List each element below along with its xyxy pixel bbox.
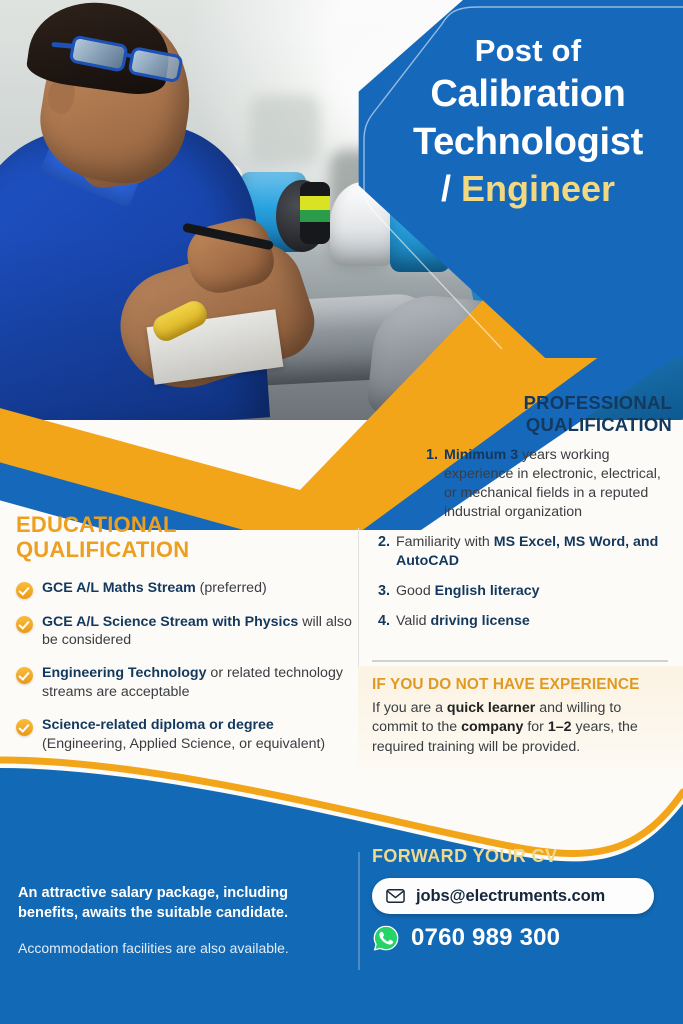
list-item-number: 2. <box>372 533 390 552</box>
list-item: 3. Good English literacy <box>372 582 672 601</box>
job-title-line2: Technologist <box>382 120 674 164</box>
no-experience-line2-bold2: 1–2 <box>548 719 572 735</box>
list-item-text: Valid driving license <box>396 612 530 631</box>
educational-heading-line1: EDUCATIONAL <box>16 512 354 537</box>
list-item-text: GCE A/L Maths Stream (preferred) <box>42 579 267 598</box>
check-icon <box>16 582 33 599</box>
salary-text: An attractive salary package, including … <box>18 884 348 923</box>
list-item-bold: GCE A/L Maths Stream <box>42 580 196 596</box>
job-flyer: Post of Calibration Technologist / Engin… <box>0 0 683 1024</box>
check-icon <box>16 667 33 684</box>
list-item-number: 1. <box>420 446 438 465</box>
email-contact-pill[interactable]: jobs@electruments.com <box>372 878 654 914</box>
engineer-label: Engineer <box>461 168 615 209</box>
header-title-block: Post of Calibration Technologist / Engin… <box>382 34 674 210</box>
list-item-pre: Good <box>396 583 435 599</box>
list-item: GCE A/L Maths Stream (preferred) <box>16 579 354 599</box>
salary-info: An attractive salary package, including … <box>18 884 348 957</box>
email-address: jobs@electruments.com <box>416 887 605 906</box>
list-item-text: GCE A/L Science Stream with Physics will… <box>42 613 354 651</box>
job-title-line3: / Engineer <box>382 167 674 210</box>
phone-number: 0760 989 300 <box>411 924 560 952</box>
list-item: GCE A/L Science Stream with Physics will… <box>16 613 354 651</box>
list-item-bold: English literacy <box>435 583 540 599</box>
forward-cv-section: FORWARD YOUR CV jobs@electruments.com 07… <box>372 846 672 952</box>
no-experience-line2-bold: company <box>461 719 523 735</box>
educational-qualification-section: EDUCATIONAL QUALIFICATION GCE A/L Maths … <box>16 512 354 768</box>
list-item-rest: (preferred) <box>196 580 267 596</box>
slash-separator: / <box>441 168 451 209</box>
professional-list: 1. Minimum 3 years working experience in… <box>372 446 672 631</box>
job-title-line1: Calibration <box>382 72 674 116</box>
no-experience-line1-post: and willing to <box>535 700 621 716</box>
professional-heading-line2: QUALIFICATION <box>372 414 672 436</box>
check-icon <box>16 719 33 736</box>
professional-heading-line1: PROFESSIONAL <box>372 392 672 414</box>
educational-heading-line2: QUALIFICATION <box>16 537 354 562</box>
list-item-bold: driving license <box>430 613 529 629</box>
list-item-text: Familiarity with MS Excel, MS Word, and … <box>396 533 672 571</box>
cv-divider <box>358 852 360 970</box>
accommodation-text: Accommodation facilities are also availa… <box>18 939 348 957</box>
list-item: 2. Familiarity with MS Excel, MS Word, a… <box>372 533 672 571</box>
list-item-text: Minimum 3 years working experience in el… <box>444 446 672 522</box>
list-item: 4. Valid driving license <box>372 612 672 631</box>
list-item-bold: Engineering Technology <box>42 665 206 681</box>
professional-heading: PROFESSIONAL QUALIFICATION <box>372 392 672 436</box>
list-item-bold: Science-related diploma or degree <box>42 717 274 733</box>
list-item-text: Good English literacy <box>396 582 540 601</box>
no-experience-rule <box>372 660 668 662</box>
no-experience-line1-bold: quick learner <box>447 700 535 716</box>
forward-cv-heading: FORWARD YOUR CV <box>372 846 672 867</box>
list-item-bold: Minimum 3 <box>444 447 518 463</box>
professional-qualification-section: PROFESSIONAL QUALIFICATION 1. Minimum 3 … <box>372 392 672 642</box>
list-item: 1. Minimum 3 years working experience in… <box>372 446 672 522</box>
list-item-pre: Valid <box>396 613 430 629</box>
no-experience-line2-post: for <box>523 719 547 735</box>
check-icon <box>16 616 33 633</box>
whatsapp-icon <box>372 924 400 952</box>
no-experience-heading: IF YOU DO NOT HAVE EXPERIENCE <box>372 676 669 694</box>
envelope-icon <box>386 889 405 903</box>
list-item-bold: GCE A/L Science Stream with Physics <box>42 614 298 630</box>
educational-list: GCE A/L Maths Stream (preferred) GCE A/L… <box>16 579 354 754</box>
educational-heading: EDUCATIONAL QUALIFICATION <box>16 512 354 563</box>
no-experience-line2-post2: years, <box>572 719 615 735</box>
list-item: Engineering Technology or related techno… <box>16 664 354 702</box>
list-item-pre: Familiarity with <box>396 534 494 550</box>
no-experience-line2-pre: commit to the <box>372 719 461 735</box>
no-experience-line1-pre: If you are a <box>372 700 447 716</box>
whatsapp-contact-row[interactable]: 0760 989 300 <box>372 924 672 952</box>
post-of-label: Post of <box>382 34 674 68</box>
list-item-text: Engineering Technology or related techno… <box>42 664 354 702</box>
list-item-number: 4. <box>372 612 390 631</box>
list-item-number: 3. <box>372 582 390 601</box>
